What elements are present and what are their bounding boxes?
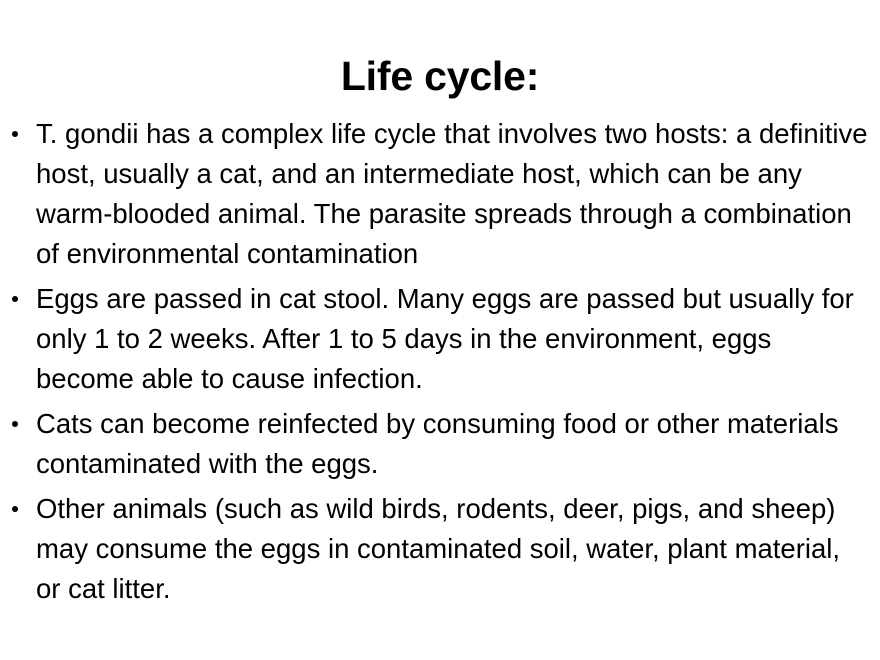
list-item-text: T. gondii has a complex life cycle that … xyxy=(36,114,870,274)
list-item: Eggs are passed in cat stool. Many eggs … xyxy=(0,279,880,399)
bullet-dot-icon xyxy=(12,506,18,512)
bullet-list: T. gondii has a complex life cycle that … xyxy=(0,114,880,614)
list-item: T. gondii has a complex life cycle that … xyxy=(0,114,880,274)
bullet-dot-icon xyxy=(12,421,18,427)
page-title: Life cycle: xyxy=(0,52,880,100)
list-item-text: Other animals (such as wild birds, roden… xyxy=(36,489,870,609)
slide-canvas: Life cycle: T. gondii has a complex life… xyxy=(0,0,880,660)
list-item: Other animals (such as wild birds, roden… xyxy=(0,489,880,609)
list-item: Cats can become reinfected by consuming … xyxy=(0,404,880,484)
bullet-dot-icon xyxy=(12,131,18,137)
bullet-dot-icon xyxy=(12,296,18,302)
list-item-text: Eggs are passed in cat stool. Many eggs … xyxy=(36,279,870,399)
list-item-text: Cats can become reinfected by consuming … xyxy=(36,404,870,484)
